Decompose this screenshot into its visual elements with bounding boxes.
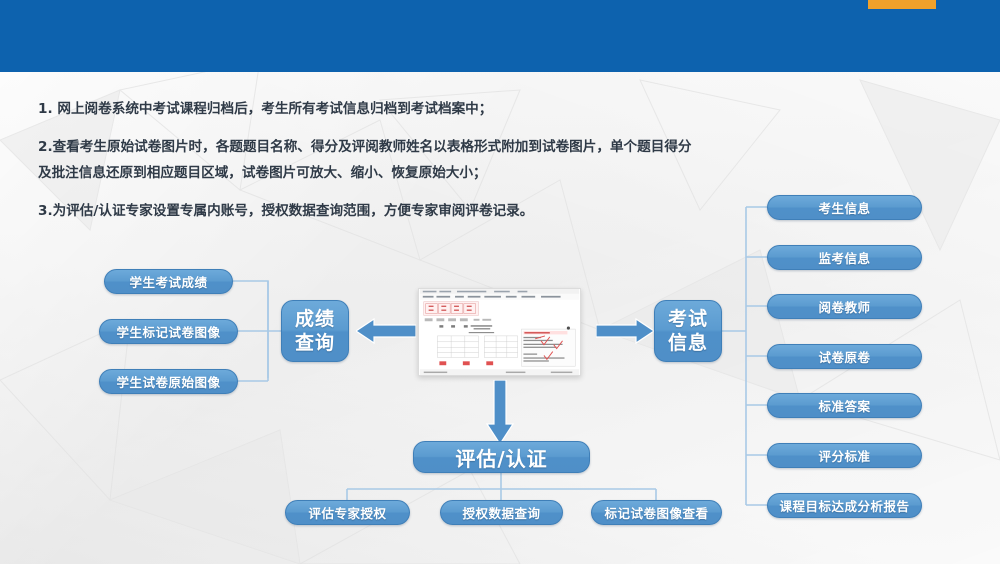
- node-marked-paper-image-view[interactable]: 标记试卷图像查看: [591, 500, 722, 525]
- arrow-left-icon: [356, 316, 416, 346]
- node-score-query-line-2: 查询: [295, 331, 335, 355]
- node-student-exam-score[interactable]: 学生考试成绩: [104, 269, 233, 294]
- node-student-original-paper-image[interactable]: 学生试卷原始图像: [99, 369, 238, 394]
- marked-exam-paper-screenshot[interactable]: [418, 288, 581, 376]
- node-candidate-info[interactable]: 考生信息: [767, 195, 922, 220]
- header-bar: [0, 0, 1000, 72]
- node-original-exam-paper[interactable]: 试卷原卷: [767, 344, 922, 369]
- node-student-marked-paper-image[interactable]: 学生标记试卷图像: [99, 319, 238, 344]
- diagram: 学生考试成绩 学生标记试卷图像 学生试卷原始图像 成绩 查询: [0, 0, 1000, 564]
- node-expert-authorization[interactable]: 评估专家授权: [285, 500, 410, 525]
- node-course-objective-report[interactable]: 课程目标达成分析报告: [767, 493, 922, 518]
- node-marking-teacher[interactable]: 阅卷教师: [767, 294, 922, 319]
- node-standard-answer[interactable]: 标准答案: [767, 393, 922, 418]
- node-score-query-hub[interactable]: 成绩 查询: [281, 300, 349, 362]
- node-scoring-criteria[interactable]: 评分标准: [767, 443, 922, 468]
- arrow-right-icon: [596, 316, 654, 346]
- node-exam-info-hub[interactable]: 考试 信息: [654, 300, 722, 362]
- node-assessment-certification[interactable]: 评估/认证: [413, 441, 590, 473]
- node-exam-info-line-2: 信息: [668, 331, 708, 355]
- node-invigilation-info[interactable]: 监考信息: [767, 245, 922, 270]
- slide-canvas: 考试档案管理 1. 网上阅卷系统中考试课程归档后，考生所有考试信息归档到考试档案…: [0, 0, 1000, 564]
- node-exam-info-line-1: 考试: [668, 307, 708, 331]
- node-authorized-data-query[interactable]: 授权数据查询: [440, 500, 563, 525]
- accent-bar: [868, 0, 936, 9]
- arrow-down-icon: [484, 380, 516, 444]
- node-score-query-line-1: 成绩: [295, 307, 335, 331]
